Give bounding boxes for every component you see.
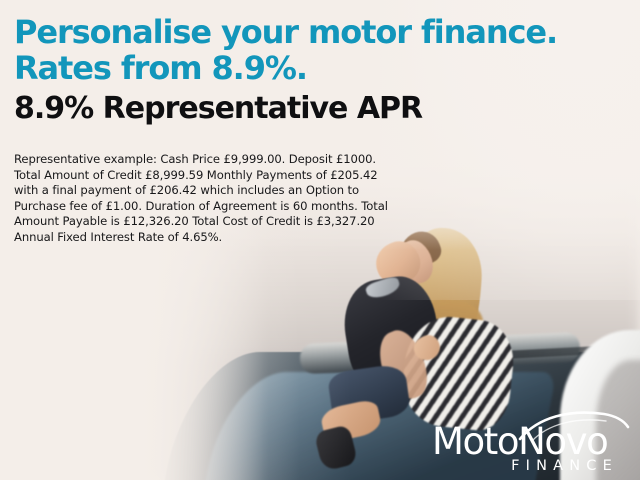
representative-apr-heading: 8.9% Representative APR — [14, 92, 614, 126]
headline-line-2: Rates from 8.9%. — [14, 50, 614, 86]
logo-wordmark: MotoNovo — [432, 422, 624, 462]
ad-copy-block: Personalise your motor finance. Rates fr… — [14, 0, 614, 246]
headline-line-1: Personalise your motor finance. — [14, 14, 614, 50]
motonovo-finance-logo: MotoNovo FINANCE — [432, 416, 624, 474]
motonovo-finance-ad-banner: Personalise your motor finance. Rates fr… — [0, 0, 640, 480]
logo-subtitle: FINANCE — [432, 458, 618, 474]
headline: Personalise your motor finance. Rates fr… — [14, 0, 614, 86]
representative-example-text: Representative example: Cash Price £9,99… — [14, 152, 392, 246]
